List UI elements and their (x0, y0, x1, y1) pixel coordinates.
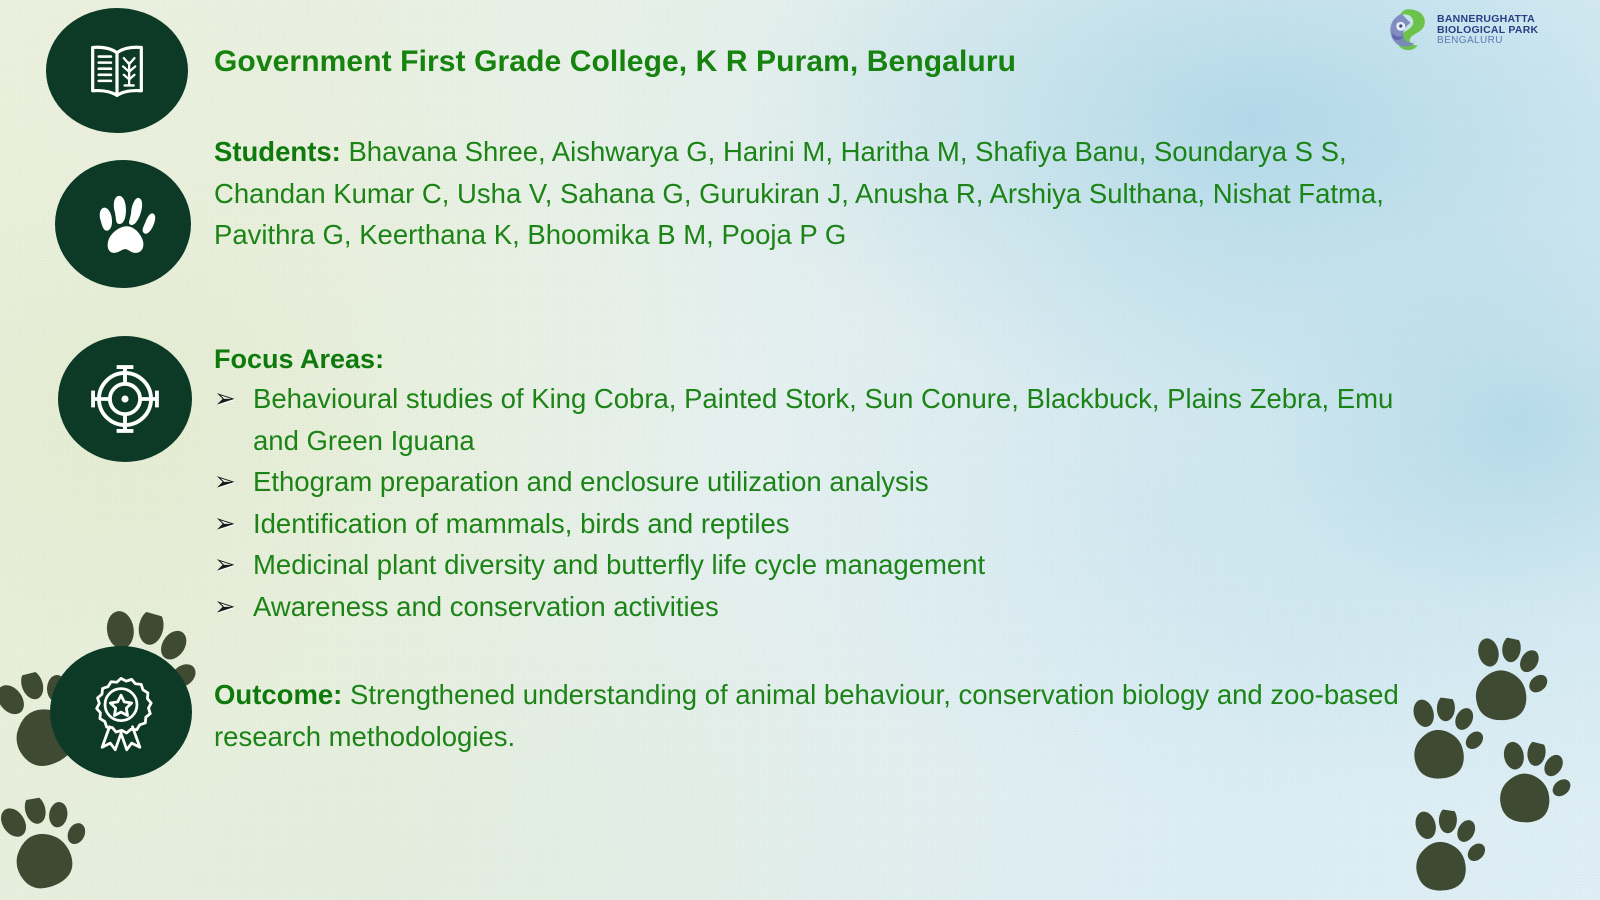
outcome-label: Outcome: (214, 679, 342, 710)
list-item: ➢ Awareness and conservation activities (214, 586, 1444, 628)
presentation-slide: BANNERUGHATTA BIOLOGICAL PARK BENGALURU … (0, 0, 1600, 900)
bullet-arrow-icon: ➢ (214, 544, 244, 586)
bullet-arrow-icon: ➢ (214, 586, 244, 628)
paw-print-decoration-right-top (1453, 630, 1554, 737)
focus-areas-block: Focus Areas: ➢ Behavioural studies of Ki… (214, 341, 1444, 627)
outcome-block: Outcome: Strengthened understanding of a… (214, 674, 1414, 758)
list-item: ➢ Identification of mammals, birds and r… (214, 503, 1444, 545)
award-ribbon-star-icon (50, 646, 192, 778)
park-logo-mark (1384, 6, 1432, 54)
focus-areas-heading: Focus Areas: (214, 341, 1444, 378)
list-item: ➢ Medicinal plant diversity and butterfl… (214, 544, 1444, 586)
park-logo: BANNERUGHATTA BIOLOGICAL PARK BENGALURU (1384, 4, 1544, 56)
paw-print-decoration-right-bottom (1396, 805, 1490, 900)
list-item-text: Behavioural studies of King Cobra, Paint… (253, 383, 1393, 456)
paw-print-decoration-left-lower (0, 791, 96, 900)
logo-line-3: BENGALURU (1437, 36, 1538, 46)
park-logo-text: BANNERUGHATTA BIOLOGICAL PARK BENGALURU (1437, 14, 1538, 46)
list-item: ➢ Ethogram preparation and enclosure uti… (214, 461, 1444, 503)
list-item-text: Awareness and conservation activities (253, 591, 719, 622)
list-item-text: Medicinal plant diversity and butterfly … (253, 549, 985, 580)
paw-print-decoration-right-middle-right (1477, 733, 1578, 840)
bullet-arrow-icon: ➢ (214, 503, 244, 545)
students-label: Students: (214, 136, 341, 167)
logo-line-2: BIOLOGICAL PARK (1437, 25, 1538, 36)
crosshair-target-icon (58, 336, 192, 462)
outcome-text: Strengthened understanding of animal beh… (214, 679, 1399, 752)
page-title: Government First Grade College, K R Pura… (214, 45, 1364, 79)
list-item-text: Identification of mammals, birds and rep… (253, 508, 790, 539)
animal-paw-print-icon (55, 160, 191, 288)
bullet-arrow-icon: ➢ (214, 461, 244, 503)
open-book-with-sapling-icon (46, 8, 188, 133)
list-item-text: Ethogram preparation and enclosure utili… (253, 466, 929, 497)
students-block: Students: Bhavana Shree, Aishwarya G, Ha… (214, 131, 1414, 256)
students-names: Bhavana Shree, Aishwarya G, Harini M, Ha… (214, 136, 1384, 250)
bullet-arrow-icon: ➢ (214, 378, 244, 420)
focus-areas-list: ➢ Behavioural studies of King Cobra, Pai… (214, 378, 1444, 627)
list-item: ➢ Behavioural studies of King Cobra, Pai… (214, 378, 1444, 461)
